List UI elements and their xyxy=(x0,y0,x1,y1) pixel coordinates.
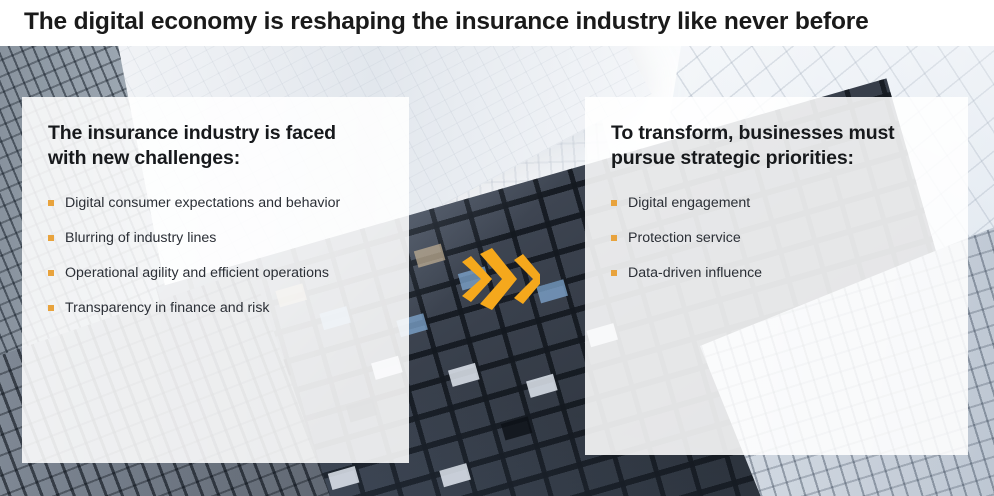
square-bullet-icon xyxy=(48,305,54,311)
left-panel-heading: The insurance industry is faced with new… xyxy=(48,121,383,172)
list-item: Transparency in finance and risk xyxy=(48,299,383,318)
slide: The digital economy is reshaping the ins… xyxy=(0,0,994,496)
list-item-label: Digital engagement xyxy=(628,195,750,211)
list-item-label: Data-driven influence xyxy=(628,265,762,281)
square-bullet-icon xyxy=(48,200,54,206)
right-bullet-list: Digital engagement Protection service Da… xyxy=(611,194,942,284)
list-item: Digital engagement xyxy=(611,194,942,213)
page-title: The digital economy is reshaping the ins… xyxy=(24,8,869,36)
right-content-panel: To transform, businesses must pursue str… xyxy=(585,97,968,455)
list-item: Operational agility and efficient operat… xyxy=(48,264,383,283)
square-bullet-icon xyxy=(48,270,54,276)
square-bullet-icon xyxy=(611,200,617,206)
list-item: Digital consumer expectations and behavi… xyxy=(48,194,383,213)
list-item-label: Blurring of industry lines xyxy=(65,230,216,246)
triple-chevron-right-icon xyxy=(462,248,540,310)
right-panel-heading: To transform, businesses must pursue str… xyxy=(611,121,942,172)
list-item: Blurring of industry lines xyxy=(48,229,383,248)
list-item: Data-driven influence xyxy=(611,264,942,283)
left-bullet-list: Digital consumer expectations and behavi… xyxy=(48,194,383,319)
list-item-label: Operational agility and efficient operat… xyxy=(65,265,329,281)
left-content-panel: The insurance industry is faced with new… xyxy=(22,97,409,463)
title-band: The digital economy is reshaping the ins… xyxy=(0,0,994,46)
list-item-label: Protection service xyxy=(628,230,741,246)
list-item-label: Transparency in finance and risk xyxy=(65,300,270,316)
square-bullet-icon xyxy=(48,235,54,241)
list-item-label: Digital consumer expectations and behavi… xyxy=(65,195,340,211)
list-item: Protection service xyxy=(611,229,942,248)
square-bullet-icon xyxy=(611,270,617,276)
square-bullet-icon xyxy=(611,235,617,241)
